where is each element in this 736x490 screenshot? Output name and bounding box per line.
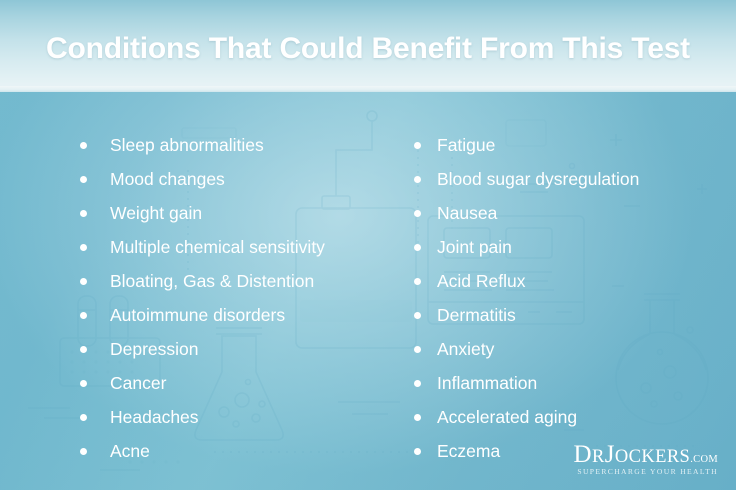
poster-root: Conditions That Could Benefit From This … bbox=[0, 0, 736, 490]
list-item: Accelerated aging bbox=[404, 400, 734, 434]
list-item: Acne bbox=[72, 434, 402, 468]
brand-logo: DRJOCKERS.COM SUPERCHARGE YOUR HEALTH bbox=[574, 442, 719, 476]
list-item: Fatigue bbox=[404, 128, 734, 162]
list-item-label: Inflammation bbox=[437, 366, 537, 400]
list-item-label: Blood sugar dysregulation bbox=[437, 162, 639, 196]
logo-dotcom: .COM bbox=[690, 454, 718, 465]
list-item-label: Anxiety bbox=[437, 332, 494, 366]
list-item: Cancer bbox=[72, 366, 402, 400]
bullet-icon bbox=[80, 346, 87, 353]
bullet-icon bbox=[80, 176, 87, 183]
list-item-label: Bloating, Gas & Distention bbox=[110, 264, 314, 298]
conditions-list-left: Sleep abnormalities Mood changes Weight … bbox=[72, 128, 402, 468]
list-item-label: Autoimmune disorders bbox=[110, 298, 285, 332]
list-item-label: Dermatitis bbox=[437, 298, 516, 332]
bullet-icon bbox=[80, 278, 87, 285]
bullet-icon bbox=[414, 278, 421, 285]
bullet-icon bbox=[414, 210, 421, 217]
bullet-icon bbox=[414, 142, 421, 149]
bullet-icon bbox=[414, 244, 421, 251]
conditions-column-right: Fatigue Blood sugar dysregulation Nausea… bbox=[404, 128, 734, 468]
list-item: Joint pain bbox=[404, 230, 734, 264]
list-item-label: Joint pain bbox=[437, 230, 512, 264]
bullet-icon bbox=[414, 414, 421, 421]
brand-tagline: SUPERCHARGE YOUR HEALTH bbox=[574, 468, 719, 476]
bullet-icon bbox=[80, 448, 87, 455]
logo-letters-ockers: OCKERS bbox=[615, 447, 690, 467]
bullet-icon bbox=[414, 448, 421, 455]
list-item-label: Accelerated aging bbox=[437, 400, 577, 434]
list-item: Depression bbox=[72, 332, 402, 366]
list-item-label: Multiple chemical sensitivity bbox=[110, 230, 325, 264]
bullet-icon bbox=[80, 312, 87, 319]
list-item: Headaches bbox=[72, 400, 402, 434]
conditions-columns: Sleep abnormalities Mood changes Weight … bbox=[0, 92, 736, 490]
list-item-label: Acne bbox=[110, 434, 150, 468]
list-item-label: Mood changes bbox=[110, 162, 225, 196]
list-item: Autoimmune disorders bbox=[72, 298, 402, 332]
list-item: Inflammation bbox=[404, 366, 734, 400]
bullet-icon bbox=[80, 380, 87, 387]
logo-letter-d: D bbox=[574, 441, 592, 468]
list-item-label: Headaches bbox=[110, 400, 199, 434]
logo-letter-r: R bbox=[592, 447, 605, 467]
bullet-icon bbox=[414, 312, 421, 319]
bullet-icon bbox=[80, 244, 87, 251]
bullet-icon bbox=[414, 346, 421, 353]
list-item: Weight gain bbox=[72, 196, 402, 230]
page-title: Conditions That Could Benefit From This … bbox=[0, 32, 736, 66]
bullet-icon bbox=[80, 414, 87, 421]
list-item-label: Depression bbox=[110, 332, 199, 366]
bullet-icon bbox=[80, 142, 87, 149]
list-item: Sleep abnormalities bbox=[72, 128, 402, 162]
logo-letter-j: J bbox=[605, 441, 615, 468]
list-item: Acid Reflux bbox=[404, 264, 734, 298]
bullet-icon bbox=[414, 176, 421, 183]
list-item-label: Fatigue bbox=[437, 128, 495, 162]
conditions-list-right: Fatigue Blood sugar dysregulation Nausea… bbox=[404, 128, 734, 468]
list-item-label: Eczema bbox=[437, 434, 500, 468]
list-item: Nausea bbox=[404, 196, 734, 230]
list-item: Bloating, Gas & Distention bbox=[72, 264, 402, 298]
list-item-label: Sleep abnormalities bbox=[110, 128, 264, 162]
list-item-label: Nausea bbox=[437, 196, 497, 230]
bullet-icon bbox=[80, 210, 87, 217]
brand-logo-wordmark: DRJOCKERS.COM bbox=[574, 442, 719, 467]
list-item: Blood sugar dysregulation bbox=[404, 162, 734, 196]
bullet-icon bbox=[414, 380, 421, 387]
list-item-label: Weight gain bbox=[110, 196, 202, 230]
conditions-column-left: Sleep abnormalities Mood changes Weight … bbox=[72, 128, 402, 468]
list-item-label: Cancer bbox=[110, 366, 166, 400]
list-item: Anxiety bbox=[404, 332, 734, 366]
list-item-label: Acid Reflux bbox=[437, 264, 526, 298]
list-item: Multiple chemical sensitivity bbox=[72, 230, 402, 264]
list-item: Dermatitis bbox=[404, 298, 734, 332]
list-item: Mood changes bbox=[72, 162, 402, 196]
